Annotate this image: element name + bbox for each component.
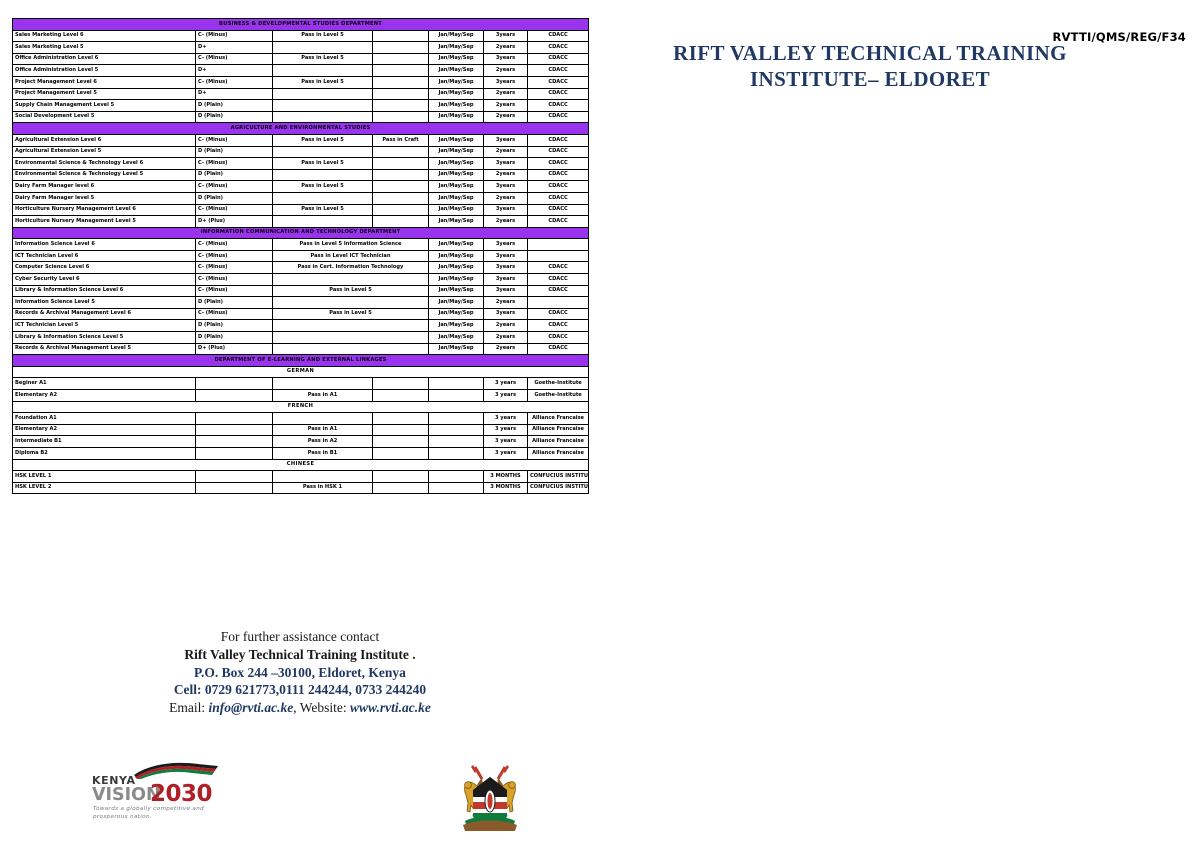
intake-cell: Jan/May/Sep [429, 134, 484, 146]
entry-requirement-cell [273, 320, 429, 332]
course-row: Beginer A13 yearsGoethe-Institute [13, 378, 589, 390]
duration-cell: 3years [484, 239, 528, 251]
department-heading: AGRICULTURE AND ENVIRONMENTAL STUDIES [13, 123, 589, 135]
intake-cell: Jan/May/Sep [429, 297, 484, 309]
alternative-requirement-cell [373, 378, 429, 390]
duration-cell: 2years [484, 343, 528, 355]
course-row: Office Administration Level 5D+Jan/May/S… [13, 65, 589, 77]
duration-cell: 3 MONTHS [484, 482, 528, 494]
intake-cell: Jan/May/Sep [429, 332, 484, 344]
duration-cell: 3years [484, 76, 528, 88]
examining-body-cell: CDACC [528, 308, 589, 320]
duration-cell: 2years [484, 320, 528, 332]
entry-requirement-cell: Pass in Level 5 [273, 308, 429, 320]
duration-cell: 3 years [484, 436, 528, 448]
intake-cell: Jan/May/Sep [429, 262, 484, 274]
entry-grade-cell: C- (Minus) [196, 181, 273, 193]
alternative-requirement-cell [373, 181, 429, 193]
examining-body-cell: CDACC [528, 100, 589, 112]
course-row: Social Development Level 5D (Plain)Jan/M… [13, 111, 589, 123]
entry-grade-cell: D+ (Plus) [196, 216, 273, 228]
course-name-cell: Records & Archival Management Level 6 [13, 308, 196, 320]
email-link[interactable]: info@rvti.ac.ke [208, 700, 293, 715]
course-name-cell: Library & Information Science Level 5 [13, 332, 196, 344]
course-name-cell: Library & Information Science Level 6 [13, 285, 196, 297]
duration-cell: 3years [484, 308, 528, 320]
examining-body-cell: CDACC [528, 204, 589, 216]
entry-grade-cell: D (Plain) [196, 146, 273, 158]
examining-body-cell: Goethe-Institute [528, 378, 589, 390]
duration-cell: 2years [484, 146, 528, 158]
course-name-cell: Agricultural Extension Level 5 [13, 146, 196, 158]
entry-grade-cell: D (Plain) [196, 320, 273, 332]
alternative-requirement-cell [373, 42, 429, 54]
department-heading: INFORMATION COMMUNICATION AND TECHNOLOGY… [13, 227, 589, 239]
examining-body-cell [528, 239, 589, 251]
course-name-cell: Intermediate B1 [13, 436, 196, 448]
entry-grade-cell: C- (Minus) [196, 134, 273, 146]
entry-requirement-cell: Pass in A1 [273, 424, 373, 436]
course-row: Sales Marketing Level 5D+Jan/May/Sep2yea… [13, 42, 589, 54]
duration-cell: 3 years [484, 413, 528, 425]
course-name-cell: Office Administration Level 6 [13, 53, 196, 65]
entry-grade-cell: D (Plain) [196, 297, 273, 309]
examining-body-cell: CDACC [528, 53, 589, 65]
entry-requirement-cell: Pass in Level 5 [273, 181, 373, 193]
course-row: Agricultural Extension Level 5D (Plain)J… [13, 146, 589, 158]
examining-body-cell: CDACC [528, 76, 589, 88]
course-row: Cyber Security Level 6C- (Minus)Jan/May/… [13, 274, 589, 286]
alternative-requirement-cell [373, 53, 429, 65]
examining-body-cell: CDACC [528, 285, 589, 297]
course-name-cell: Horticulture Nursery Management Level 6 [13, 204, 196, 216]
course-name-cell: Cyber Security Level 6 [13, 274, 196, 286]
course-name-cell: Records & Archival Management Level 5 [13, 343, 196, 355]
intake-cell: Jan/May/Sep [429, 111, 484, 123]
entry-grade-cell: D (Plain) [196, 192, 273, 204]
examining-body-cell: Alliance Francaise [528, 424, 589, 436]
entry-grade-cell: D+ (Plus) [196, 343, 273, 355]
vision2030-year-text: 2030 [150, 781, 212, 807]
department-heading: DEPARTMENT OF E-LEARNING AND EXTERNAL LI… [13, 355, 589, 367]
kenya-flag-ribbon-icon [132, 762, 220, 779]
table-section-header-row: GERMAN [13, 366, 589, 378]
intake-cell: Jan/May/Sep [429, 146, 484, 158]
entry-grade-cell: D (Plain) [196, 111, 273, 123]
entry-requirement-cell: Pass in Level 5 [273, 204, 373, 216]
duration-cell: 3 MONTHS [484, 471, 528, 483]
vision2030-tagline: Towards a globally competitive and prosp… [93, 805, 225, 822]
course-row: ICT Technician Level 5D (Plain)Jan/May/S… [13, 320, 589, 332]
duration-cell: 3 years [484, 378, 528, 390]
intake-cell: Jan/May/Sep [429, 88, 484, 100]
entry-requirement-cell: Pass in Level 5 [273, 134, 373, 146]
intake-cell: Jan/May/Sep [429, 65, 484, 77]
entry-requirement-cell: Pass in A2 [273, 436, 373, 448]
intake-cell [429, 390, 484, 402]
course-name-cell: Information Science Level 5 [13, 297, 196, 309]
intake-cell: Jan/May/Sep [429, 250, 484, 262]
entry-grade-cell: D (Plain) [196, 332, 273, 344]
institute-title: RIFT VALLEY TECHNICAL TRAINING INSTITUTE… [610, 40, 1130, 93]
examining-body-cell: Goethe-Institute [528, 390, 589, 402]
contact-line-intro: For further assistance contact [0, 628, 600, 646]
duration-cell: 3years [484, 285, 528, 297]
table-section-header-row: FRENCH [13, 401, 589, 413]
entry-grade-cell: D+ [196, 88, 273, 100]
intake-cell: Jan/May/Sep [429, 158, 484, 170]
intake-cell [429, 447, 484, 459]
table-section-header-row: CHINESE [13, 459, 589, 471]
alternative-requirement-cell [373, 192, 429, 204]
institute-title-line-2: INSTITUTE– ELDORET [610, 66, 1130, 92]
entry-grade-cell: C- (Minus) [196, 53, 273, 65]
duration-cell: 3 years [484, 390, 528, 402]
course-name-cell: Agricultural Extension Level 6 [13, 134, 196, 146]
course-row: Information Science Level 6C- (Minus)Pas… [13, 239, 589, 251]
duration-cell: 2years [484, 65, 528, 77]
entry-requirement-cell: Pass in Level 5 [273, 285, 429, 297]
course-row: Elementary A2Pass in A13 yearsGoethe-Ins… [13, 390, 589, 402]
course-name-cell: Office Administration Level 5 [13, 65, 196, 77]
entry-grade-cell: D (Plain) [196, 169, 273, 181]
examining-body-cell: CDACC [528, 216, 589, 228]
course-row: Elementary A2Pass in A13 yearsAlliance F… [13, 424, 589, 436]
intake-cell: Jan/May/Sep [429, 274, 484, 286]
course-row: Records & Archival Management Level 6C- … [13, 308, 589, 320]
course-name-cell: Beginer A1 [13, 378, 196, 390]
course-row: Agricultural Extension Level 6C- (Minus)… [13, 134, 589, 146]
contact-line-email-website: Email: info@rvti.ac.ke, Website: www.rvt… [0, 699, 600, 717]
course-table-container: BUSINESS & DEVELOPMENTAL STUDIES DEPARTM… [12, 18, 588, 494]
alternative-requirement-cell [373, 390, 429, 402]
alternative-requirement-cell [373, 482, 429, 494]
duration-cell: 3 years [484, 424, 528, 436]
duration-cell: 2years [484, 100, 528, 112]
examining-body-cell: CDACC [528, 88, 589, 100]
course-row: Intermediate B1Pass in A23 yearsAlliance… [13, 436, 589, 448]
intake-cell: Jan/May/Sep [429, 308, 484, 320]
course-name-cell: Project Management Level 5 [13, 88, 196, 100]
examining-body-cell: CDACC [528, 42, 589, 54]
entry-grade-cell [196, 482, 273, 494]
duration-cell: 3years [484, 134, 528, 146]
entry-requirement-cell: Pass in Cert. Information Technology [273, 262, 429, 274]
intake-cell [429, 482, 484, 494]
course-name-cell: Supply Chain Management Level 5 [13, 100, 196, 112]
course-row: Supply Chain Management Level 5D (Plain)… [13, 100, 589, 112]
contact-line-address: P.O. Box 244 –30100, Eldoret, Kenya [0, 664, 600, 682]
entry-grade-cell: C- (Minus) [196, 285, 273, 297]
entry-grade-cell: D+ [196, 42, 273, 54]
entry-requirement-cell [273, 100, 373, 112]
intake-cell: Jan/May/Sep [429, 169, 484, 181]
examining-body-cell: CDACC [528, 169, 589, 181]
duration-cell: 3years [484, 181, 528, 193]
course-row: Environmental Science & Technology Level… [13, 158, 589, 170]
entry-requirement-cell: Pass in B1 [273, 447, 373, 459]
duration-cell: 2years [484, 297, 528, 309]
alternative-requirement-cell [373, 216, 429, 228]
course-offerings-table: BUSINESS & DEVELOPMENTAL STUDIES DEPARTM… [12, 18, 589, 494]
course-name-cell: ICT Technician Level 5 [13, 320, 196, 332]
examining-body-cell: CDACC [528, 332, 589, 344]
examining-body-cell: CDACC [528, 262, 589, 274]
alternative-requirement-cell [373, 111, 429, 123]
course-name-cell: Environmental Science & Technology Level… [13, 158, 196, 170]
entry-grade-cell [196, 471, 273, 483]
entry-requirement-cell [273, 471, 373, 483]
alternative-requirement-cell [373, 76, 429, 88]
course-name-cell: Sales Marketing Level 6 [13, 30, 196, 42]
entry-requirement-cell [273, 65, 373, 77]
entry-requirement-cell [273, 378, 373, 390]
duration-cell: 3years [484, 262, 528, 274]
intake-cell: Jan/May/Sep [429, 320, 484, 332]
intake-cell: Jan/May/Sep [429, 53, 484, 65]
entry-requirement-cell: Pass in Level ICT Technician [273, 250, 429, 262]
examining-body-cell: CDACC [528, 192, 589, 204]
intake-cell [429, 413, 484, 425]
entry-grade-cell [196, 424, 273, 436]
duration-cell: 2years [484, 216, 528, 228]
examining-body-cell: CDACC [528, 134, 589, 146]
examining-body-cell: CDACC [528, 181, 589, 193]
alternative-requirement-cell [373, 100, 429, 112]
language-heading: GERMAN [13, 366, 589, 378]
duration-cell: 3years [484, 274, 528, 286]
entry-requirement-cell: Pass in Level 5 [273, 76, 373, 88]
entry-requirement-cell: Pass in A1 [273, 390, 373, 402]
entry-requirement-cell [273, 332, 429, 344]
course-row: Information Science Level 5D (Plain)Jan/… [13, 297, 589, 309]
duration-cell: 2years [484, 111, 528, 123]
entry-requirement-cell: Pass in Level 5 [273, 53, 373, 65]
entry-grade-cell: C- (Minus) [196, 30, 273, 42]
intake-cell: Jan/May/Sep [429, 239, 484, 251]
course-name-cell: Horticulture Nursery Management Level 5 [13, 216, 196, 228]
website-link[interactable]: www.rvti.ac.ke [350, 700, 431, 715]
examining-body-cell: CDACC [528, 30, 589, 42]
contact-block: For further assistance contact Rift Vall… [0, 628, 600, 717]
entry-grade-cell: C- (Minus) [196, 274, 273, 286]
course-row: Sales Marketing Level 6C- (Minus)Pass in… [13, 30, 589, 42]
entry-grade-cell [196, 436, 273, 448]
duration-cell: 3 years [484, 447, 528, 459]
examining-body-cell: CDACC [528, 158, 589, 170]
duration-cell: 3years [484, 158, 528, 170]
course-name-cell: Foundation A1 [13, 413, 196, 425]
entry-requirement-cell [273, 146, 373, 158]
entry-requirement-cell [273, 274, 429, 286]
entry-requirement-cell: Pass in Level 5 Information Science [273, 239, 429, 251]
course-row: Horticulture Nursery Management Level 6C… [13, 204, 589, 216]
course-row: Environmental Science & Technology Level… [13, 169, 589, 181]
contact-line-institute: Rift Valley Technical Training Institute… [0, 646, 600, 664]
alternative-requirement-cell: Pass in Craft [373, 134, 429, 146]
duration-cell: 2years [484, 332, 528, 344]
intake-cell: Jan/May/Sep [429, 285, 484, 297]
course-row: Records & Archival Management Level 5D+ … [13, 343, 589, 355]
intake-cell [429, 424, 484, 436]
course-row: Dairy Farm Manager level 5D (Plain)Jan/M… [13, 192, 589, 204]
intake-cell: Jan/May/Sep [429, 76, 484, 88]
table-section-header-row: AGRICULTURE AND ENVIRONMENTAL STUDIES [13, 123, 589, 135]
language-heading: CHINESE [13, 459, 589, 471]
email-label: Email: [169, 700, 208, 715]
alternative-requirement-cell [373, 204, 429, 216]
course-name-cell: Elementary A2 [13, 390, 196, 402]
examining-body-cell: CDACC [528, 65, 589, 77]
table-section-header-row: BUSINESS & DEVELOPMENTAL STUDIES DEPARTM… [13, 19, 589, 31]
entry-grade-cell [196, 390, 273, 402]
course-row: ICT Technician Level 6C- (Minus)Pass in … [13, 250, 589, 262]
entry-grade-cell: C- (Minus) [196, 76, 273, 88]
alternative-requirement-cell [373, 169, 429, 181]
intake-cell [429, 436, 484, 448]
entry-grade-cell [196, 413, 273, 425]
examining-body-cell: Alliance Francaise [528, 447, 589, 459]
entry-grade-cell: D (Plain) [196, 100, 273, 112]
entry-grade-cell: C- (Minus) [196, 158, 273, 170]
left-page-column: BUSINESS & DEVELOPMENTAL STUDIES DEPARTM… [0, 0, 600, 849]
duration-cell: 2years [484, 42, 528, 54]
course-name-cell: Dairy Farm Manager level 5 [13, 192, 196, 204]
alternative-requirement-cell [373, 158, 429, 170]
entry-grade-cell: D+ [196, 65, 273, 77]
course-row: Project Management Level 6C- (Minus)Pass… [13, 76, 589, 88]
entry-requirement-cell [273, 111, 373, 123]
duration-cell: 2years [484, 88, 528, 100]
course-name-cell: Project Management Level 6 [13, 76, 196, 88]
entry-requirement-cell [273, 413, 373, 425]
table-section-header-row: DEPARTMENT OF E-LEARNING AND EXTERNAL LI… [13, 355, 589, 367]
entry-grade-cell [196, 447, 273, 459]
course-name-cell: HSK LEVEL 1 [13, 471, 196, 483]
entry-requirement-cell: Pass in Level 5 [273, 30, 373, 42]
intake-cell: Jan/May/Sep [429, 30, 484, 42]
duration-cell: 3years [484, 30, 528, 42]
language-heading: FRENCH [13, 401, 589, 413]
intake-cell: Jan/May/Sep [429, 181, 484, 193]
course-row: HSK LEVEL 13 MONTHSCONFUCIUS INSTITUTE C… [13, 471, 589, 483]
alternative-requirement-cell [373, 436, 429, 448]
examining-body-cell: Alliance Francaise [528, 436, 589, 448]
alternative-requirement-cell [373, 30, 429, 42]
alternative-requirement-cell [373, 424, 429, 436]
entry-grade-cell [196, 378, 273, 390]
course-row: Office Administration Level 6C- (Minus)P… [13, 53, 589, 65]
examining-body-cell: CDACC [528, 146, 589, 158]
examining-body-cell: CDACC [528, 111, 589, 123]
intake-cell: Jan/May/Sep [429, 216, 484, 228]
alternative-requirement-cell [373, 146, 429, 158]
duration-cell: 3years [484, 53, 528, 65]
entry-requirement-cell [273, 297, 429, 309]
examining-body-cell [528, 250, 589, 262]
right-page-column: RVTTI/QMS/REG/F34 RIFT VALLEY TECHNICAL … [600, 0, 1200, 849]
kenya-vision-2030-logo: KENYA VISION 2030 Towards a globally com… [92, 762, 220, 820]
alternative-requirement-cell [373, 447, 429, 459]
entry-requirement-cell [273, 216, 373, 228]
course-row: Dairy Farm Manager level 6C- (Minus)Pass… [13, 181, 589, 193]
course-row: Library & Information Science Level 5D (… [13, 332, 589, 344]
kenya-coat-of-arms-icon [455, 757, 525, 833]
contact-line-phone: Cell: 0729 621773,0111 244244, 0733 2442… [0, 681, 600, 699]
duration-cell: 3years [484, 250, 528, 262]
table-section-header-row: INFORMATION COMMUNICATION AND TECHNOLOGY… [13, 227, 589, 239]
entry-requirement-cell [273, 169, 373, 181]
intake-cell: Jan/May/Sep [429, 192, 484, 204]
examining-body-cell [528, 297, 589, 309]
entry-grade-cell: C- (Minus) [196, 204, 273, 216]
course-name-cell: Computer Science Level 6 [13, 262, 196, 274]
intake-cell: Jan/May/Sep [429, 100, 484, 112]
course-name-cell: Dairy Farm Manager level 6 [13, 181, 196, 193]
duration-cell: 2years [484, 192, 528, 204]
course-row: Project Management Level 5D+Jan/May/Sep2… [13, 88, 589, 100]
examining-body-cell: CDACC [528, 274, 589, 286]
intake-cell: Jan/May/Sep [429, 204, 484, 216]
intake-cell: Jan/May/Sep [429, 42, 484, 54]
examining-body-cell: CONFUCIUS INSTITUTE CHINA [528, 482, 589, 494]
course-name-cell: Diploma B2 [13, 447, 196, 459]
duration-cell: 2years [484, 169, 528, 181]
course-name-cell: HSK LEVEL 2 [13, 482, 196, 494]
intake-cell [429, 378, 484, 390]
course-name-cell: Environmental Science & Technology Level… [13, 169, 196, 181]
entry-requirement-cell: Pass in HSK 1 [273, 482, 373, 494]
course-row: Diploma B2Pass in B13 yearsAlliance Fran… [13, 447, 589, 459]
entry-requirement-cell [273, 88, 373, 100]
entry-grade-cell: C- (Minus) [196, 239, 273, 251]
entry-requirement-cell [273, 343, 429, 355]
intake-cell: Jan/May/Sep [429, 343, 484, 355]
examining-body-cell: Alliance Francaise [528, 413, 589, 425]
examining-body-cell: CDACC [528, 320, 589, 332]
course-name-cell: Information Science Level 6 [13, 239, 196, 251]
examining-body-cell: CDACC [528, 343, 589, 355]
alternative-requirement-cell [373, 65, 429, 77]
course-row: Foundation A13 yearsAlliance Francaise [13, 413, 589, 425]
alternative-requirement-cell [373, 88, 429, 100]
course-name-cell: ICT Technician Level 6 [13, 250, 196, 262]
entry-grade-cell: C- (Minus) [196, 262, 273, 274]
entry-requirement-cell: Pass in Level 5 [273, 158, 373, 170]
course-row: Computer Science Level 6C- (Minus)Pass i… [13, 262, 589, 274]
duration-cell: 3years [484, 204, 528, 216]
department-heading: BUSINESS & DEVELOPMENTAL STUDIES DEPARTM… [13, 19, 589, 31]
course-name-cell: Sales Marketing Level 5 [13, 42, 196, 54]
course-name-cell: Elementary A2 [13, 424, 196, 436]
entry-grade-cell: C- (Minus) [196, 308, 273, 320]
course-row: Horticulture Nursery Management Level 5D… [13, 216, 589, 228]
institute-title-line-1: RIFT VALLEY TECHNICAL TRAINING [610, 40, 1130, 66]
course-row: HSK LEVEL 2Pass in HSK 13 MONTHSCONFUCIU… [13, 482, 589, 494]
entry-grade-cell: C- (Minus) [196, 250, 273, 262]
alternative-requirement-cell [373, 413, 429, 425]
entry-requirement-cell [273, 192, 373, 204]
entry-requirement-cell [273, 42, 373, 54]
intake-cell [429, 471, 484, 483]
examining-body-cell: CONFUCIUS INSTITUTE CHINA [528, 471, 589, 483]
course-row: Library & Information Science Level 6C- … [13, 285, 589, 297]
course-name-cell: Social Development Level 5 [13, 111, 196, 123]
alternative-requirement-cell [373, 471, 429, 483]
website-label: , Website: [293, 700, 350, 715]
